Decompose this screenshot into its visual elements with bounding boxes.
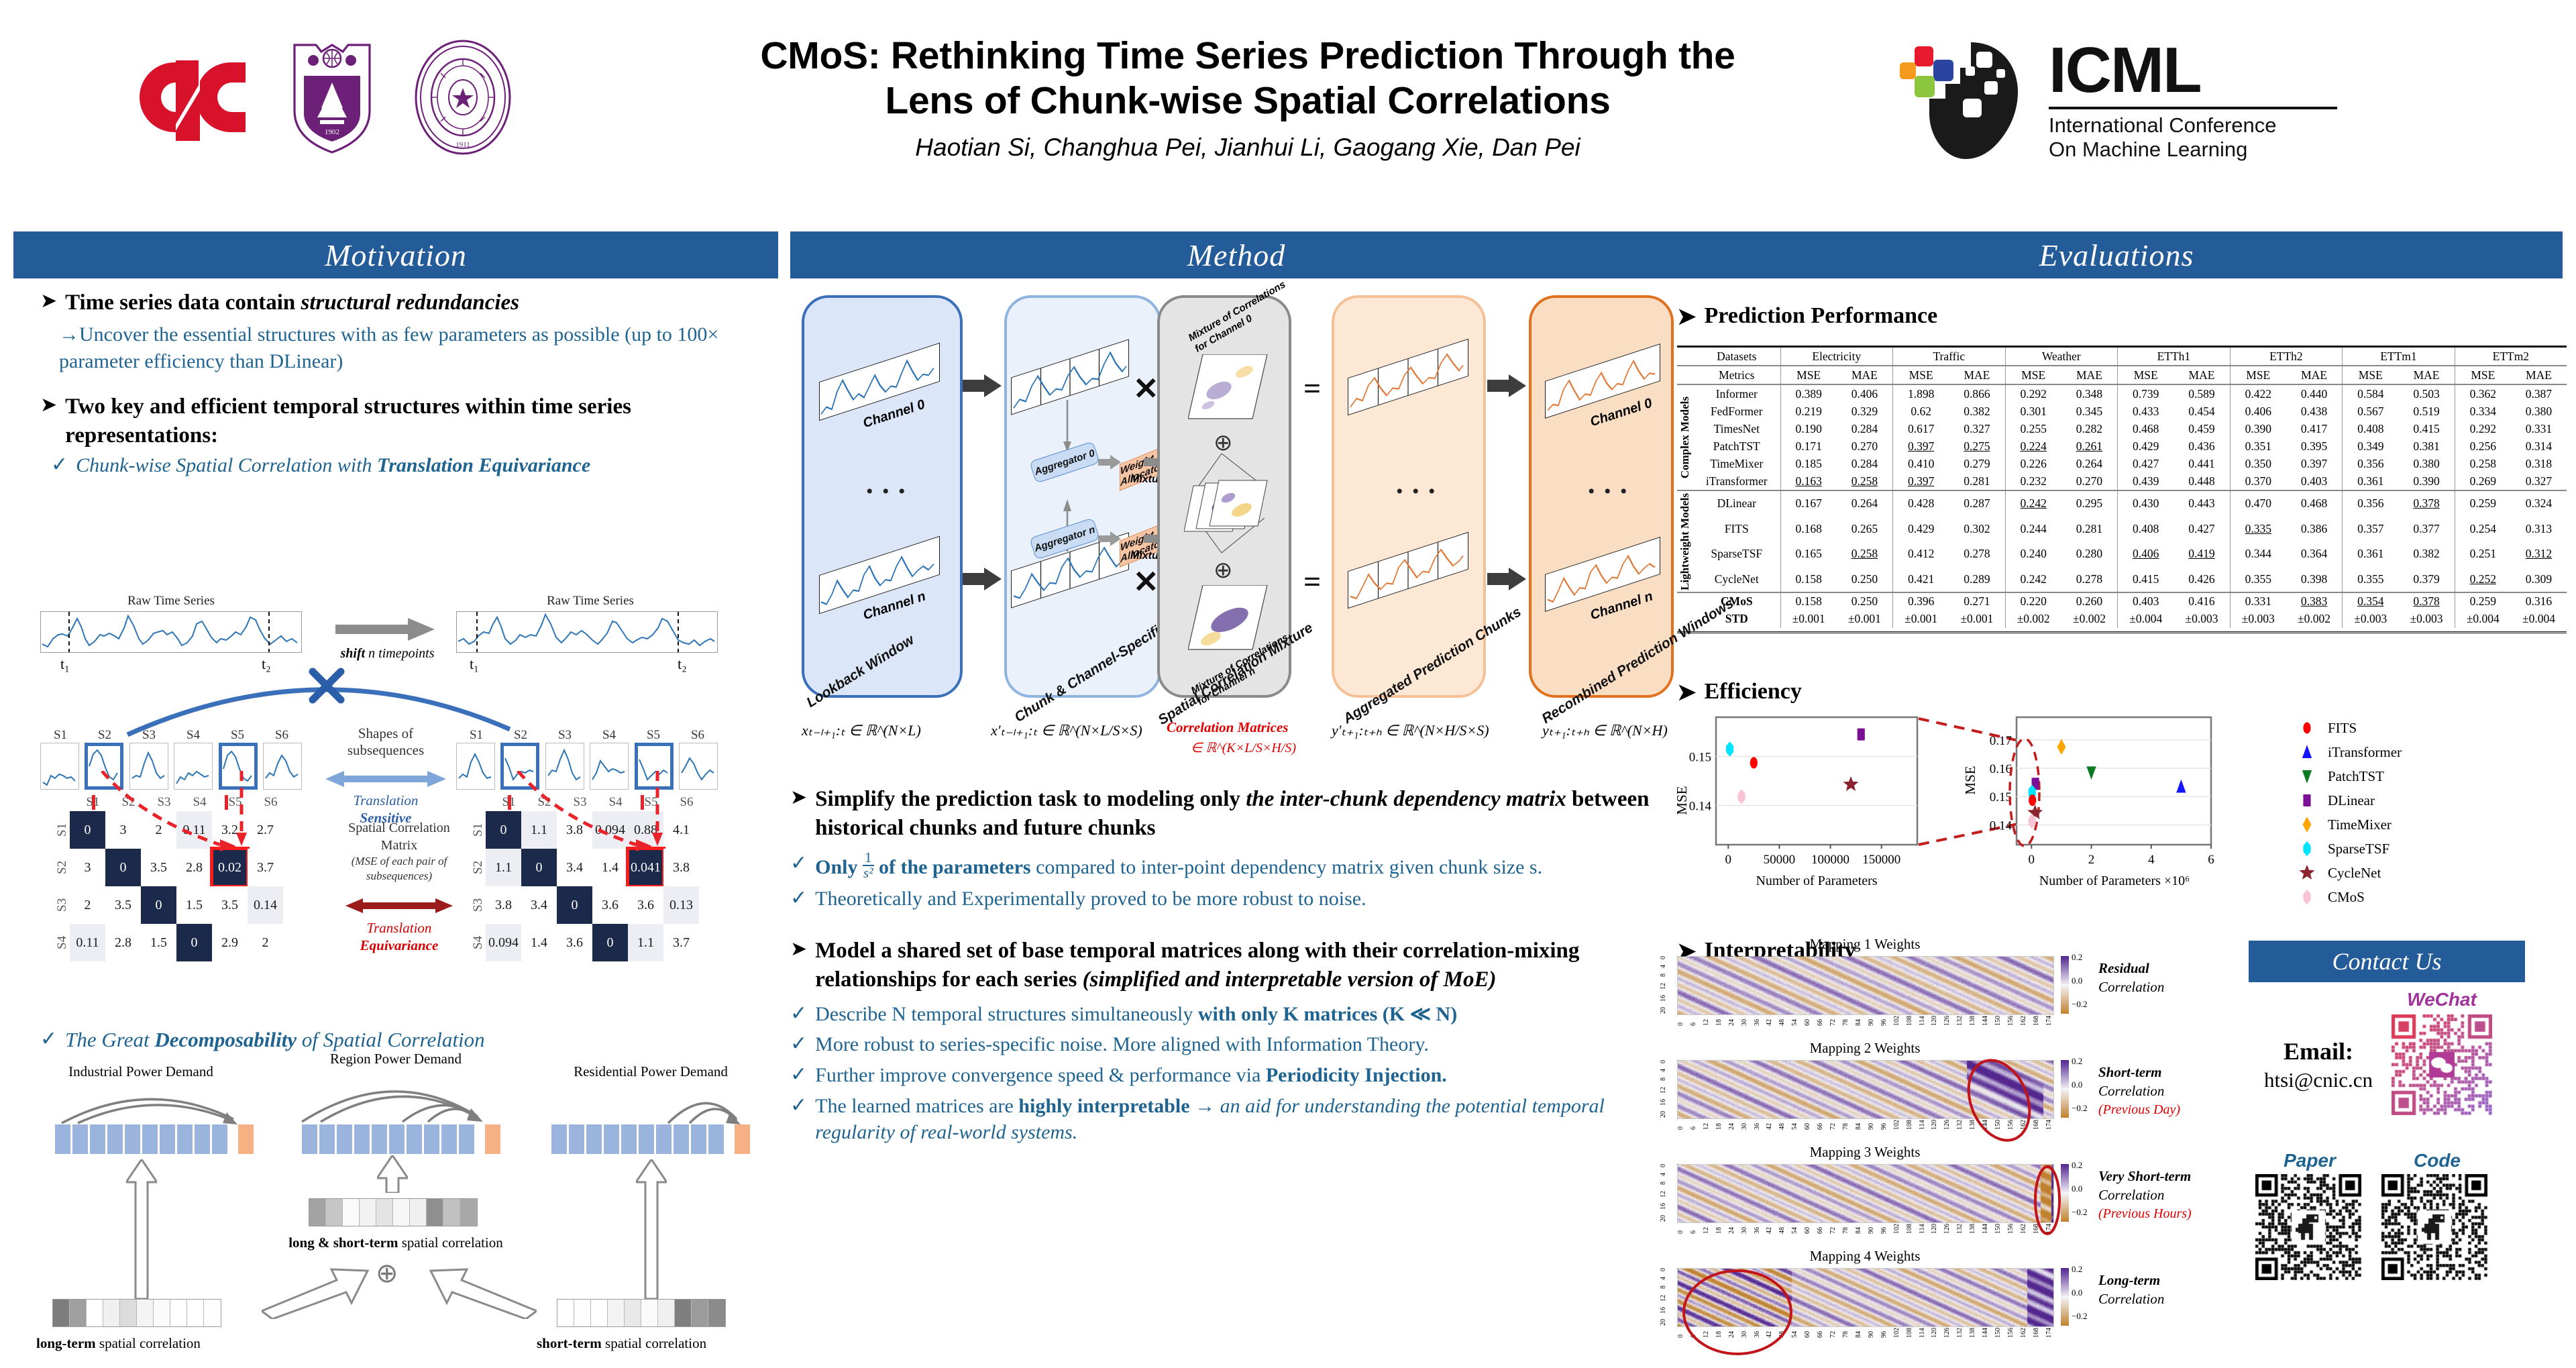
flow-arrow-icon — [1098, 455, 1121, 470]
formula-correlation-dims: ∈ ℝ^(K×L/S×H/S) — [1191, 739, 1296, 756]
x-tick-label: 66 — [1817, 1120, 1824, 1130]
x-tick-label: 96 — [1880, 1224, 1888, 1234]
x-tick-label: 18 — [1715, 1016, 1723, 1026]
nanjing-university-logo: 1902 — [289, 37, 375, 158]
table-cell: 0.406 — [1837, 384, 1893, 403]
annotation-bold: Very Short-term — [2098, 1167, 2253, 1186]
x-tick-label: 132 — [1956, 1120, 1964, 1130]
contact-panel: Contact Us WeChat Email: htsi@cnic.cn Pa… — [2249, 941, 2525, 1304]
subseq-label: S6 — [262, 728, 302, 743]
shift-arrow-icon — [335, 618, 436, 641]
matrix-cell: 0.11 — [70, 924, 105, 961]
heatmap-annotation: Short-termCorrelation(Previous Day) — [2098, 1063, 2253, 1119]
long-term-arcs-icon — [54, 1087, 248, 1127]
colorbar-tick: 0.0 — [2072, 976, 2088, 986]
table-cell: 0.439 — [2118, 472, 2174, 490]
eval-section-1-label: Prediction Performance — [1705, 303, 1938, 329]
model-name: TimeMixer — [1693, 455, 1780, 472]
table-cell: 0.380 — [2511, 403, 2567, 420]
table-cell: 0.519 — [2398, 403, 2455, 420]
table-cell: 0.378 — [2398, 490, 2455, 517]
table-cell: 0.412 — [1893, 541, 1949, 566]
table-cell: ±0.003 — [2343, 611, 2399, 628]
x-tick-label: 150 — [1994, 1120, 2002, 1130]
x-tick-label: 72 — [1829, 1328, 1837, 1338]
matrix-cell: 0.094 — [486, 924, 521, 961]
model-name: PatchTST — [1693, 437, 1780, 455]
decomp-panel-title: Industrial Power Demand — [40, 1063, 241, 1080]
table-cell: 0.258 — [1837, 472, 1893, 490]
poster-header: 1902 1911 CMoS: R — [0, 0, 2576, 228]
y-tick-label: 0 — [1660, 1060, 1667, 1063]
annotation-rest: Correlation — [2098, 1082, 2253, 1100]
model-name: STD — [1693, 611, 1780, 628]
table-cell: ±0.004 — [2455, 611, 2511, 628]
table-cell: 0.379 — [2398, 566, 2455, 592]
legend-marker-icon — [2296, 741, 2318, 763]
heatmap-panel: Mapping 4 Weights04812162006121824303642… — [1657, 1248, 2274, 1352]
chunk-cell — [407, 1124, 422, 1154]
table-cell: 0.255 — [2005, 420, 2061, 437]
motivation-bullet-1-emph: structural redundancies — [301, 291, 520, 315]
subseq-label: S3 — [129, 728, 169, 743]
flow-arrow-icon — [1487, 374, 1526, 397]
table-cell: 0.158 — [1780, 566, 1837, 592]
table-cell: 0.398 — [2286, 566, 2343, 592]
y-tick-label: 0.17 — [1990, 734, 2012, 748]
oplus-icon-top: ⊕ — [1214, 429, 1233, 456]
icml-mark-icon — [1898, 37, 2033, 164]
table-cell: 0.370 — [2230, 472, 2286, 490]
table-cell: 0.232 — [2005, 472, 2061, 490]
table-cell: 0.301 — [2005, 403, 2061, 420]
heatmap-y-axis: 048121620 — [1660, 1268, 1667, 1326]
legend-item: FITS — [2296, 716, 2402, 740]
table-cell: 0.397 — [1893, 437, 1949, 455]
colorbar-tick: 0.0 — [2072, 1080, 2088, 1090]
chunk-cell — [177, 1124, 193, 1154]
up-arrow-icon — [377, 1155, 408, 1193]
group-label: Complex Models — [1678, 397, 1692, 478]
x-tick-label: 24 — [1728, 1224, 1735, 1234]
y-tick-label: 16 — [1660, 1203, 1667, 1210]
x-tick-label: 114 — [1919, 1224, 1926, 1234]
page-title: CMoS: Rethinking Time Series Prediction … — [637, 34, 1858, 124]
metric-header: MSE — [2343, 366, 2399, 384]
x-tick-label: 6 — [1690, 1224, 1697, 1234]
table-cell: 0.282 — [2061, 420, 2118, 437]
y-tick-label: 4 — [1660, 1069, 1667, 1072]
dataset-header: ETTm1 — [2343, 347, 2455, 366]
wechat-label: WeChat — [2388, 989, 2495, 1010]
x-tick-label: 168 — [2033, 1224, 2040, 1234]
method-check-5-t1: Further improve convergence speed & perf… — [815, 1064, 1266, 1086]
table-cell: 0.242 — [2005, 566, 2061, 592]
y-tick-label: 12 — [1660, 1191, 1667, 1198]
metric-header: MAE — [2061, 366, 2118, 384]
colorbar-labels: 0.20.0−0.2 — [2072, 1056, 2088, 1114]
heatmap-x-axis: 0612182430364248546066727884909610210811… — [1677, 1328, 2053, 1338]
x-tick-label: 66 — [1817, 1328, 1824, 1338]
check-icon: ✓ — [790, 1001, 807, 1027]
y-tick-label: 12 — [1660, 1087, 1667, 1094]
section-header-evaluations-label: Evaluations — [2039, 238, 2194, 273]
x-tick-label: 60 — [1804, 1328, 1811, 1338]
y-tick-label: 12 — [1660, 1295, 1667, 1302]
flow-arrow-icon — [1098, 531, 1121, 546]
base-matrices-stack — [1184, 454, 1278, 554]
y-tick-label: 0.14 — [1990, 819, 2012, 833]
check-icon: ✓ — [51, 452, 68, 478]
table-cell: 0.220 — [2005, 592, 2061, 611]
table-cell: 0.259 — [2455, 490, 2511, 517]
table-cell: 0.443 — [2173, 490, 2230, 517]
formula-allocation: x′ₜ₋ₗ₊₁:ₜ ∈ ℝ^(N×L/S×S) — [991, 722, 1142, 739]
chunk-cell — [604, 1124, 619, 1154]
legend-marker-icon — [2296, 862, 2318, 884]
x-tick-label: 132 — [1956, 1224, 1964, 1234]
matrix-cell: 3.6 — [557, 924, 592, 961]
y-tick-label: 8 — [1660, 1077, 1667, 1081]
table-cell: ±0.001 — [1949, 611, 2005, 628]
data-point — [2029, 794, 2036, 806]
table-cell: 0.436 — [2173, 437, 2230, 455]
table-cell: ±0.001 — [1837, 611, 1893, 628]
table-cell: 0.386 — [2286, 517, 2343, 541]
table-cell: 0.406 — [2118, 541, 2174, 566]
table-cell: 0.278 — [2061, 566, 2118, 592]
chunk-cell — [691, 1124, 706, 1154]
formula-correlation-matrices: Correlation Matrices — [1167, 719, 1288, 736]
chunk-cell — [142, 1124, 158, 1154]
chunk-cell — [195, 1124, 210, 1154]
red-dashed-pointers — [40, 771, 751, 905]
data-point — [2303, 817, 2312, 832]
fraction-denominator: s² — [863, 866, 874, 880]
legend-label: iTransformer — [2328, 744, 2402, 761]
table-cell: ±0.001 — [1893, 611, 1949, 628]
metric-header: MSE — [2118, 366, 2174, 384]
method-architecture-diagram: Channel 0 • • • Channel n Lookback Windo… — [795, 295, 1680, 725]
table-cell: 0.185 — [1780, 455, 1837, 472]
title-line-2: Lens of Chunk-wise Spatial Correlations — [637, 78, 1858, 123]
shift-label-bold: shift — [340, 646, 365, 661]
table-cell: 0.470 — [2230, 490, 2286, 517]
x-tick-label: 126 — [1943, 1328, 1951, 1338]
table-cell: 0.281 — [1949, 472, 2005, 490]
method-check-4-text: More robust to series-specific noise. Mo… — [815, 1031, 1429, 1058]
table-cell: 0.387 — [2511, 384, 2567, 403]
x-tick-label: 24 — [1728, 1120, 1735, 1130]
x-tick-label: 174 — [2045, 1120, 2053, 1130]
table-cell: 0.468 — [2286, 490, 2343, 517]
table-row: Complex ModelsInformer0.3890.4061.8980.8… — [1677, 384, 2567, 403]
table-header-row: DatasetsElectricityTrafficWeatherETTh1ET… — [1677, 347, 2567, 366]
subseq-label: S2 — [85, 728, 125, 743]
spatial-correlation-matrices-figure: S1 S2 S3 S4 S5 S6 S1S2S3S40320.113.22.73… — [40, 795, 751, 996]
heatmap-title: Mapping 2 Weights — [1677, 1040, 2053, 1057]
model-name: FedFormer — [1693, 403, 1780, 420]
x-tick-label: 108 — [1906, 1224, 1913, 1234]
table-cell: 0.254 — [2455, 517, 2511, 541]
matrix-cell: 2.9 — [212, 924, 248, 961]
wechat-qr-code[interactable] — [2392, 1014, 2492, 1115]
table-cell: 0.348 — [2061, 384, 2118, 403]
x-tick-label: 96 — [1880, 1016, 1888, 1026]
table-row: STD±0.001±0.001±0.001±0.001±0.002±0.002±… — [1677, 611, 2567, 628]
table-cell: 0.350 — [2230, 455, 2286, 472]
chunk-cell — [389, 1124, 405, 1154]
formula-lookback: xₜ₋ₗ₊₁:ₜ ∈ ℝ^(N×L) — [802, 722, 921, 739]
x-tick-label: 150 — [1994, 1328, 2002, 1338]
chunk-cell-target — [485, 1124, 500, 1154]
table-row: FedFormer0.2190.3290.620.3820.3010.3450.… — [1677, 403, 2567, 420]
table-corner-label: Datasets — [1693, 347, 1780, 366]
table-cell: 0.219 — [1780, 403, 1837, 420]
x-tick-label: 30 — [1741, 1328, 1748, 1338]
chunk-cell — [337, 1124, 352, 1154]
dataset-header: Weather — [2005, 347, 2118, 366]
metric-header: MSE — [1893, 366, 1949, 384]
y-tick-label: 20 — [1660, 1215, 1667, 1222]
table-cell: 0.292 — [2455, 420, 2511, 437]
chunk-cell — [424, 1124, 439, 1154]
method-check-3-t1: Describe N temporal structures simultane… — [815, 1003, 1198, 1025]
table-cell: 0.280 — [2061, 541, 2118, 566]
caption-left-rest: spatial correlation — [96, 1335, 201, 1351]
table-cell: 0.351 — [2230, 437, 2286, 455]
x-tick-label: 162 — [2020, 1016, 2027, 1026]
model-name: CycleNet — [1693, 566, 1780, 592]
method-bullet-2: ➤ Model a shared set of base temporal ma… — [790, 937, 1682, 994]
table-cell: 0.617 — [1893, 420, 1949, 437]
table-cell: 0.355 — [2230, 566, 2286, 592]
chunk-cell — [372, 1124, 387, 1154]
contact-header-label: Contact Us — [2332, 947, 2441, 976]
x-tick-label: 120 — [1931, 1120, 1938, 1130]
heatmap-canvas — [1677, 1268, 2054, 1327]
annotation-bold: Residual — [2098, 959, 2253, 978]
table-cell: 0.258 — [2455, 455, 2511, 472]
x-tick-label: 144 — [1982, 1016, 1989, 1026]
x-tick-label: 72 — [1829, 1016, 1837, 1026]
recombined-ellipsis: • • • — [1588, 480, 1629, 503]
table-cell: 0.354 — [2343, 592, 2399, 611]
legend-item: TimeMixer — [2296, 812, 2402, 837]
x-tick-label: 108 — [1906, 1016, 1913, 1026]
email-value: htsi@cnic.cn — [2258, 1068, 2379, 1092]
chunk-cell — [708, 1124, 724, 1154]
svg-text:MSE: MSE — [1677, 786, 1690, 814]
data-point — [1858, 729, 1865, 741]
chunk-cell-target — [735, 1124, 750, 1154]
method-check-3-bold: with only K matrices (K ≪ N) — [1198, 1003, 1457, 1025]
equals-icon-top: = — [1303, 370, 1321, 406]
formula-recombined: yₜ₊₁:ₜ₊ₕ ∈ ℝ^(N×H) — [1542, 722, 1668, 739]
heatmap-y-axis: 048121620 — [1660, 1164, 1667, 1222]
channel-ellipsis: • • • — [866, 480, 908, 503]
x-tick-label: 90 — [1868, 1224, 1875, 1234]
fraction-numerator: 1 — [863, 851, 874, 866]
method-check-2-text: Theoretically and Experimentally proved … — [815, 886, 1366, 912]
x-tick-label: 24 — [1728, 1016, 1735, 1026]
x-tick-label: 60 — [1804, 1120, 1811, 1130]
x-tick-label: 0 — [2029, 853, 2035, 867]
x-tick-label: 90 — [1868, 1120, 1875, 1130]
legend-marker-icon — [2296, 790, 2318, 811]
table-cell: 0.397 — [2286, 455, 2343, 472]
method-bullet-1: ➤ Simplify the prediction task to modeli… — [790, 785, 1682, 843]
model-name: DLinear — [1693, 490, 1780, 517]
colorbar-tick: −0.2 — [2072, 1103, 2088, 1114]
x-tick-label: 6 — [2208, 853, 2214, 867]
table-cell: 1.898 — [1893, 384, 1949, 403]
x-tick-label: 144 — [1982, 1224, 1989, 1234]
model-name: SparseTSF — [1693, 541, 1780, 566]
table-cell: 0.866 — [1949, 384, 2005, 403]
table-cell: 0.260 — [2061, 592, 2118, 611]
code-label: Code — [2387, 1150, 2487, 1171]
code-qr-code[interactable] — [2381, 1174, 2487, 1280]
metrics-label: Metrics — [1693, 366, 1780, 384]
data-point — [2303, 841, 2310, 857]
y-tick-label: 0 — [1660, 956, 1667, 959]
table-cell: 0.396 — [1893, 592, 1949, 611]
x-tick-label: 36 — [1754, 1328, 1761, 1338]
metric-header: MAE — [2286, 366, 2343, 384]
x-tick-label: 18 — [1715, 1120, 1723, 1130]
x-tick-label: 126 — [1943, 1120, 1951, 1130]
cnic-logo — [134, 37, 252, 158]
method-check-5-bold: Periodicity Injection. — [1266, 1064, 1447, 1086]
raw-series-left-panel — [40, 611, 302, 653]
x-tick-label: 84 — [1855, 1224, 1862, 1234]
table-row: Lightweight ModelsDLinear0.1670.2640.428… — [1677, 490, 2567, 517]
subsequence-labels-right: S1 S2 S3 S4 S5 S6 — [456, 728, 718, 743]
x-tick-label: 36 — [1754, 1224, 1761, 1234]
table-cell: 0.284 — [1837, 455, 1893, 472]
shapes-of-subsequences-label: Shapes of subsequences — [322, 725, 449, 759]
table-cell: 0.383 — [2286, 592, 2343, 611]
y-tick-label: 12 — [1660, 983, 1667, 990]
table-cell: 0.309 — [2511, 566, 2567, 592]
x-tick-label: 60 — [1804, 1224, 1811, 1234]
equivariance-translation-word: Translation — [335, 920, 463, 937]
mixed-matrix-top — [1188, 354, 1269, 421]
model-name: FITS — [1693, 517, 1780, 541]
x-tick-label: 72 — [1829, 1120, 1837, 1130]
table-cell: 0.163 — [1780, 472, 1837, 490]
chunk-cell — [656, 1124, 672, 1154]
table-cell: 0.349 — [2343, 437, 2399, 455]
motivation-bullet-1: ➤ Time series data contain structural re… — [40, 288, 778, 317]
x-tick-label: 24 — [1728, 1328, 1735, 1338]
y-tick-label: 0 — [1660, 1164, 1667, 1167]
legend-item: CMoS — [2296, 885, 2402, 909]
long-short-term-arcs-icon — [295, 1075, 496, 1127]
bullet-arrow-icon: ➤ — [790, 937, 807, 962]
x-tick-label: 18 — [1715, 1224, 1723, 1234]
industrial-chunk-row — [55, 1124, 254, 1154]
x-tick-label: 156 — [2007, 1328, 2015, 1338]
method-bullet-1-emph: the inter-chunk dependency matrix — [1246, 787, 1566, 811]
section-header-evaluations: Evaluations — [1670, 231, 2563, 278]
svg-text:Number of Parameters ×10⁶: Number of Parameters ×10⁶ — [2039, 874, 2190, 888]
check-icon: ✓ — [790, 1062, 807, 1088]
table-cell: 0.312 — [2511, 541, 2567, 566]
x-tick-label: 114 — [1919, 1328, 1926, 1338]
heatmap-panel: Mapping 1 Weights04812162006121824303642… — [1657, 936, 2274, 1040]
residential-chunk-row — [551, 1124, 750, 1154]
chunk-cell — [441, 1124, 457, 1154]
time-marker-t1-left: t₁ — [60, 655, 70, 673]
method-bullet-2-emph: (simplified and interpretable version of… — [1083, 967, 1497, 992]
heatmap-canvas — [1677, 956, 2054, 1015]
table-cell: 0.406 — [2230, 403, 2286, 420]
x-tick-label: 156 — [2007, 1016, 2015, 1026]
dataset-header: ETTm2 — [2455, 347, 2567, 366]
data-point — [2303, 722, 2310, 733]
table-row: FITS0.1680.2650.4290.3020.2440.2810.4080… — [1677, 517, 2567, 541]
chunk-cell — [212, 1124, 227, 1154]
raw-series-right-title: Raw Time Series — [456, 594, 724, 609]
x-tick-label: 108 — [1906, 1120, 1913, 1130]
table-cell: 0.433 — [2118, 403, 2174, 420]
table-cell: 0.261 — [2061, 437, 2118, 455]
table-cell: 0.278 — [1949, 541, 2005, 566]
x-tick-label: 54 — [1791, 1328, 1799, 1338]
title-line-1: CMoS: Rethinking Time Series Prediction … — [637, 34, 1858, 78]
legend-label: PatchTST — [2328, 768, 2384, 785]
table-cell: 0.244 — [2005, 517, 2061, 541]
svg-text:MSE: MSE — [1966, 766, 1978, 794]
shift-label: shift n timepoints — [329, 646, 446, 662]
y-tick-label: 8 — [1660, 1285, 1667, 1289]
subsequence-labels-left: S1 S2 S3 S4 S5 S6 — [40, 728, 302, 743]
caption-mid-bold: long & short-term — [288, 1234, 398, 1251]
legend-item: iTransformer — [2296, 740, 2402, 764]
legend-label: FITS — [2328, 720, 2357, 737]
table-cell: 0.459 — [2173, 420, 2230, 437]
matrix-cell: 0 — [176, 924, 212, 961]
x-tick-label: 96 — [1880, 1120, 1888, 1130]
metric-header: MSE — [2005, 366, 2061, 384]
table-cell: ±0.004 — [2511, 611, 2567, 628]
table-cell: 0.390 — [2398, 472, 2455, 490]
heatmap-colorbar — [2061, 1164, 2069, 1222]
table-cell: 0.252 — [2455, 566, 2511, 592]
table-cell: 0.226 — [2005, 455, 2061, 472]
equals-icon-bottom: = — [1303, 564, 1321, 599]
heatmap-panel: Mapping 3 Weights04812162006121824303642… — [1657, 1144, 2274, 1248]
x-tick-label: 6 — [1690, 1328, 1697, 1338]
x-tick-label: 174 — [2045, 1328, 2053, 1338]
x-tick-label: 30 — [1741, 1016, 1748, 1026]
motivation-bullet-1-text: Time series data contain — [65, 291, 301, 315]
x-tick-label: 156 — [2007, 1224, 2015, 1234]
chunk-cell-target — [238, 1124, 254, 1154]
table-row: TimeMixer0.1850.2840.4100.2790.2260.2640… — [1677, 455, 2567, 472]
table-cell: 0.344 — [2230, 541, 2286, 566]
x-tick-label: 84 — [1855, 1328, 1862, 1338]
up-arrow-icon — [636, 1159, 667, 1299]
x-tick-label: 30 — [1741, 1120, 1748, 1130]
table-cell: 0.329 — [1837, 403, 1893, 420]
bullet-arrow-icon: ➤ — [1677, 303, 1697, 330]
chunk-cell — [125, 1124, 140, 1154]
paper-qr-code[interactable] — [2255, 1174, 2361, 1280]
x-tick-label: 114 — [1919, 1120, 1926, 1130]
